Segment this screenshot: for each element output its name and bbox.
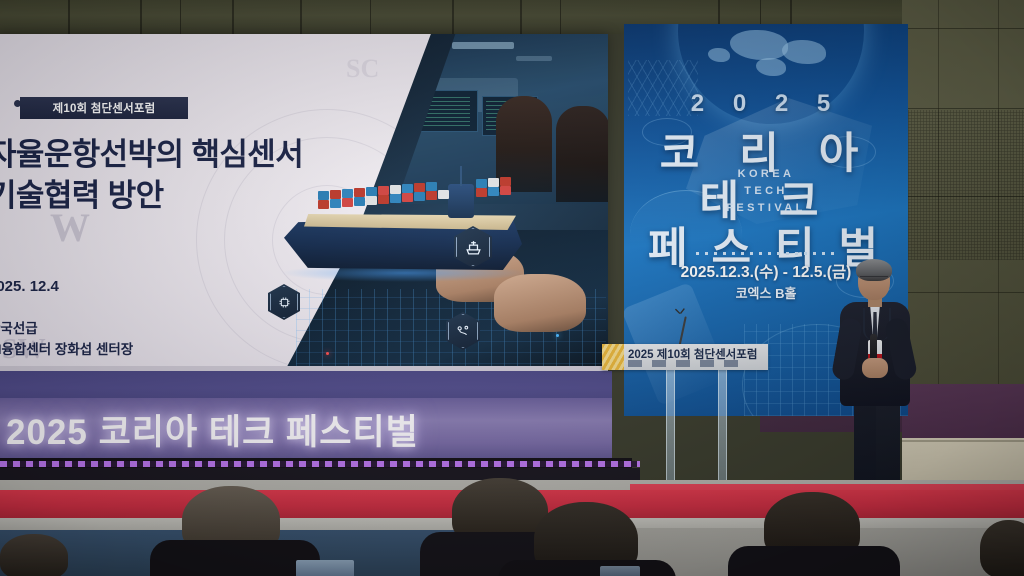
presentation-screen: W SW SC: [0, 34, 608, 370]
lectern-sign: 2025 제10회 첨단센서포럼: [602, 344, 768, 370]
sponsor-logos: [628, 360, 748, 367]
forum-badge-label: 제10회 첨단센서포럼: [53, 100, 156, 116]
acoustic-wall-panels: [902, 0, 1024, 392]
microphone-icon: [674, 308, 688, 318]
lectern-sign-accent: [602, 344, 624, 370]
speaker-hands: [862, 358, 888, 378]
slide-date: 2025. 12.4: [0, 278, 59, 295]
wall-purple-accent: [902, 384, 1024, 446]
banner-english-title: KOREA TECH FESTIVAL: [718, 166, 814, 217]
stage-truss: [0, 468, 640, 480]
laptop-screen-2: [600, 566, 640, 576]
watermark-sc: SC: [346, 54, 379, 84]
slide-title: 자율운항선박의 핵심센서 기술협력 방안: [0, 134, 368, 216]
stage-led-strip-lights: [0, 461, 640, 467]
forum-badge: 제10회 첨단센서포럼: [20, 97, 188, 119]
slide-presenter: 한국선급 AI융합센터 장화섭 센터장: [0, 319, 133, 361]
slide-photo-person-right: [556, 106, 608, 202]
laptop-screen: [296, 560, 354, 576]
led-marquee-text: 2025 코리아 테크 페스티벌: [6, 404, 606, 455]
eyeglasses: [860, 276, 888, 284]
led-marquee: 2025 코리아 테크 페스티벌: [0, 398, 612, 462]
banner-year: 2 0 2 5: [624, 90, 908, 118]
banner-divider-dots: [696, 252, 836, 255]
conference-stage-photo: W SW SC: [0, 0, 1024, 576]
